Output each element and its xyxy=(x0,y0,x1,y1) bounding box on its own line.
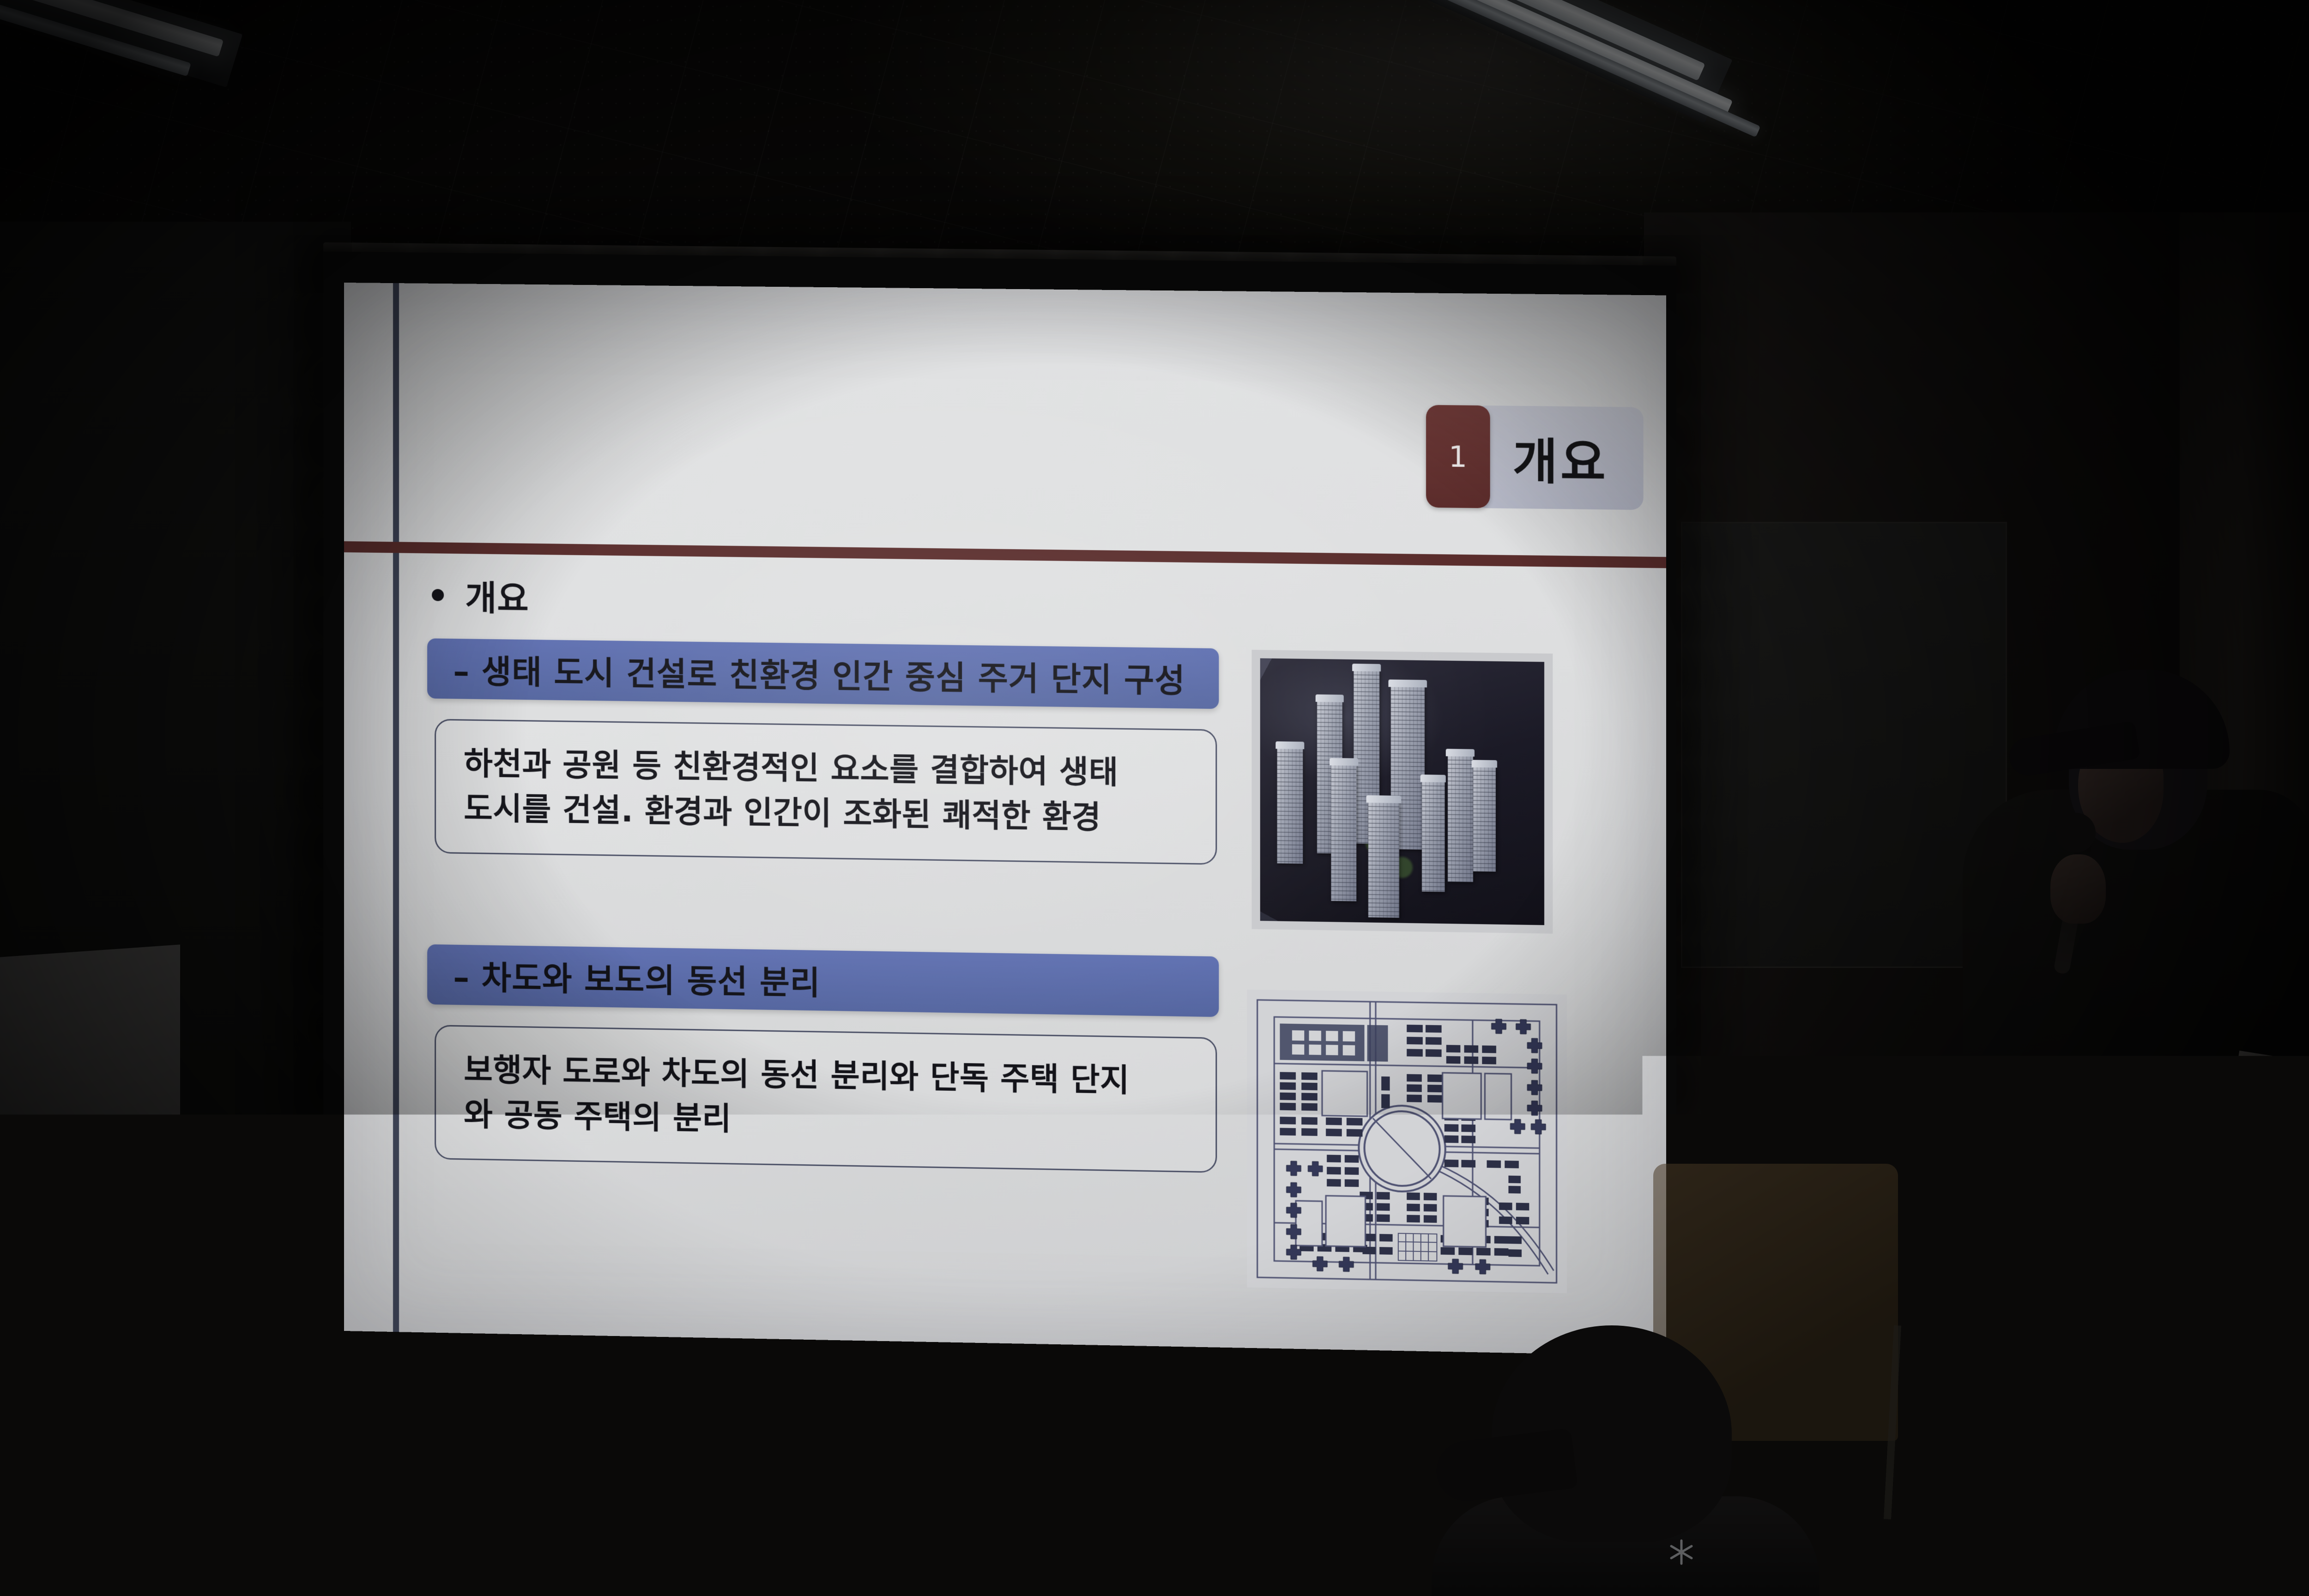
foreground-papers xyxy=(1856,1519,2116,1584)
bullet-dot-icon xyxy=(432,589,444,601)
bullet-label: 개요 xyxy=(465,570,529,621)
slide-number-badge: 1 xyxy=(1426,405,1490,508)
presenter xyxy=(1935,596,2309,1473)
slide-horizontal-rule xyxy=(344,541,1666,568)
aerial-apartment-render xyxy=(1251,650,1553,934)
section-callout-2: 보행자 도로와 차도의 동선 분리와 단독 주택 단지 와 공동 주택의 분리 xyxy=(435,1025,1217,1173)
stool-seat xyxy=(0,1482,189,1515)
flipchart-board xyxy=(0,944,180,1526)
presenter-hand xyxy=(2050,854,2106,924)
microphone-icon xyxy=(2056,813,2096,852)
flipchart-diagram-icon xyxy=(0,1312,139,1434)
section-banner-2: – 차도와 보도의 동선 분리 xyxy=(427,944,1219,1017)
section-banner-1: – 생태 도시 건설로 친환경 인간 중심 주거 단지 구성 xyxy=(427,638,1219,709)
section-callout-1: 하천과 공원 등 친환경적인 요소를 결합하여 생태 도시를 건설. 환경과 인… xyxy=(435,719,1217,865)
tower-9 xyxy=(1473,766,1496,872)
render-canvas xyxy=(1260,658,1544,925)
section-banner-1-text: – 생태 도시 건설로 친환경 인간 중심 주거 단지 구성 xyxy=(453,646,1185,702)
tower-1 xyxy=(1277,748,1303,864)
slide-title: 개요 xyxy=(1474,405,1644,510)
room-scene: 1 개요 개요 – 생태 도시 건설로 친환경 인간 중심 주거 단지 구성 하… xyxy=(0,0,2309,1596)
site-plan-drawing xyxy=(1247,990,1567,1294)
slide-bullet: 개요 xyxy=(432,570,529,621)
stool-leg xyxy=(69,1510,78,1596)
tower-8 xyxy=(1447,756,1473,882)
tower-7 xyxy=(1422,781,1445,892)
slide-vertical-rule xyxy=(393,283,399,1332)
presentation-slide: 1 개요 개요 – 생태 도시 건설로 친환경 인간 중심 주거 단지 구성 하… xyxy=(344,283,1666,1356)
site-master-plan xyxy=(1247,990,1567,1294)
tower-5 xyxy=(1331,764,1356,901)
slide-header-badge: 1 개요 xyxy=(1426,405,1644,510)
slide-body: 개요 – 생태 도시 건설로 친환경 인간 중심 주거 단지 구성 하천과 공원… xyxy=(413,570,1638,1332)
tower-6 xyxy=(1368,802,1399,918)
section-banner-2-text: – 차도와 보도의 동선 분리 xyxy=(453,951,821,1004)
jacket-snowflake-icon xyxy=(1667,1538,1696,1566)
